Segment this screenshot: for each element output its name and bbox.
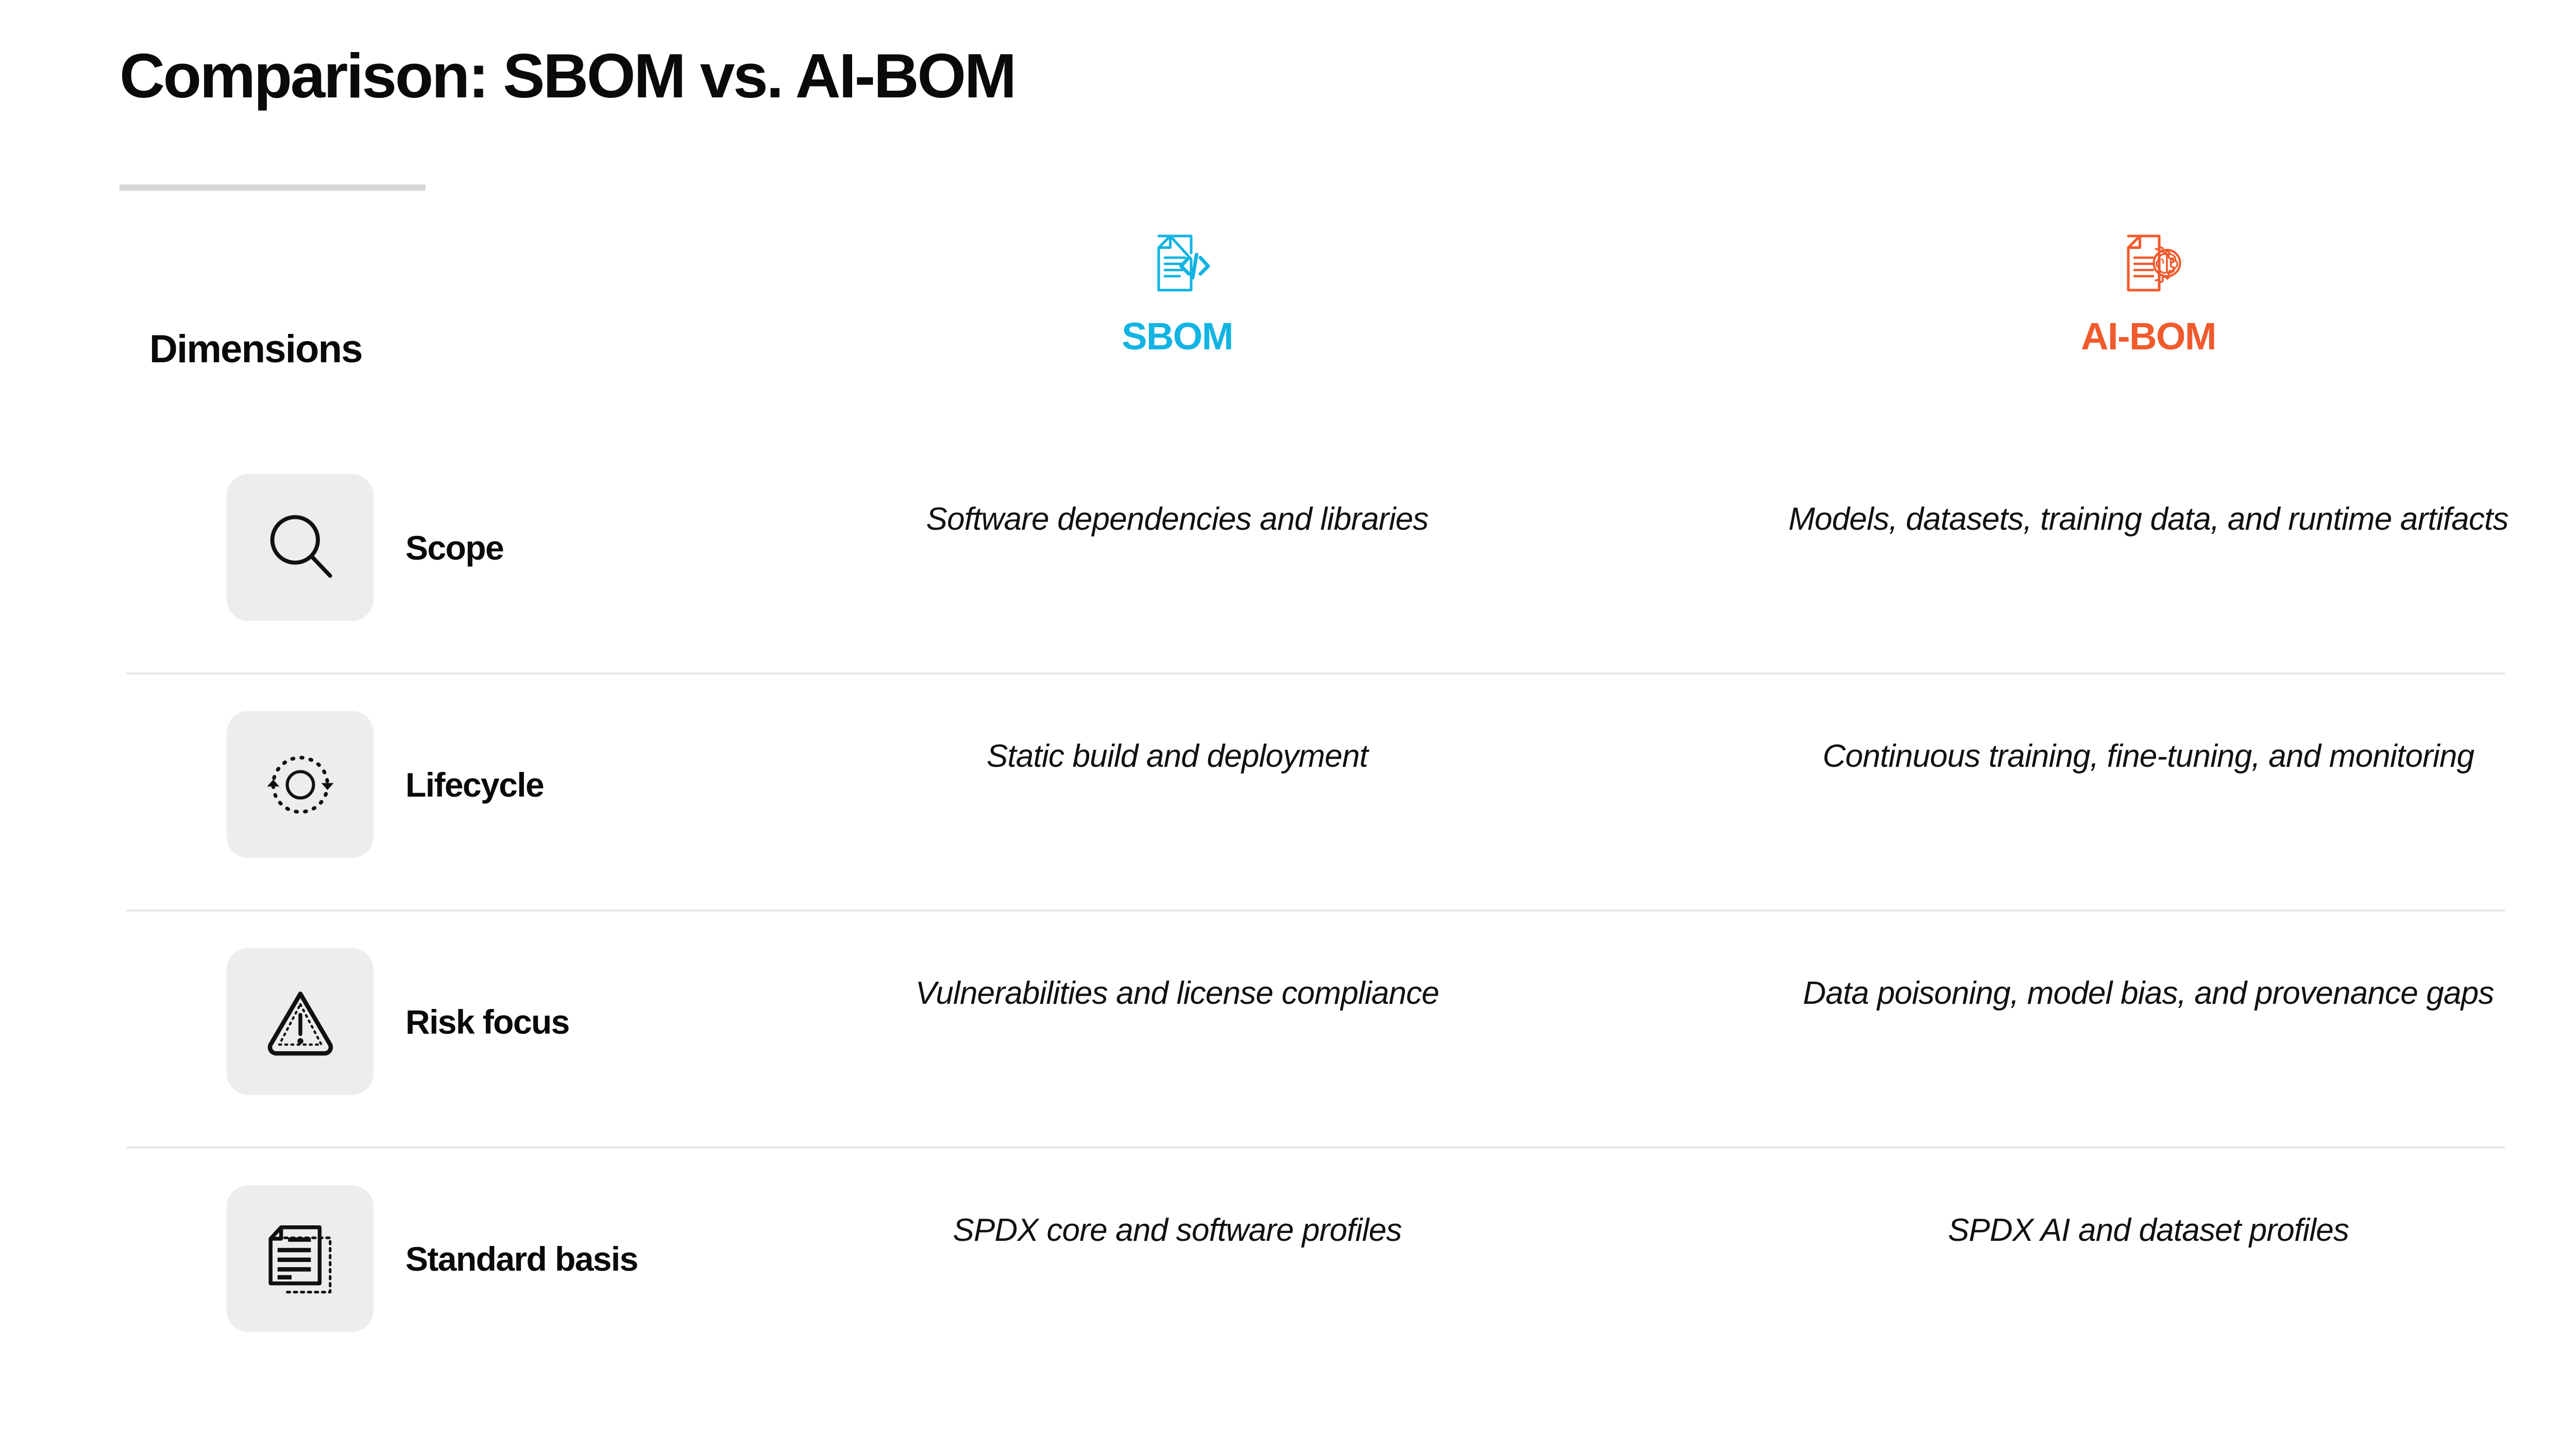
cell-sbom: Static build and deployment	[871, 735, 1484, 778]
row-label: Lifecycle	[405, 768, 544, 802]
column-header-aibom-label: AI-BOM	[2081, 317, 2216, 356]
row-divider	[126, 1147, 2505, 1149]
row-label: Standard basis	[405, 1242, 638, 1276]
cell-aibom: Models, datasets, training data, and run…	[1777, 498, 2519, 541]
cell-sbom: SPDX core and software profiles	[871, 1209, 1484, 1252]
column-header-sbom: SBOM	[876, 227, 1479, 356]
row-label: Scope	[405, 531, 503, 565]
row-dimension-cell: Lifecycle	[227, 711, 544, 858]
table-row: Lifecycle Static build and deployment Co…	[0, 672, 2576, 909]
warning-triangle-icon	[227, 948, 374, 1095]
cell-aibom: SPDX AI and dataset profiles	[1777, 1209, 2519, 1252]
comparison-slide: Comparison: SBOM vs. AI-BOM Dimensions S…	[0, 0, 2576, 1449]
column-header-sbom-label: SBOM	[1122, 317, 1233, 356]
table-row: Risk focus Vulnerabilities and license c…	[0, 909, 2576, 1147]
title-accent-rule	[120, 184, 426, 191]
row-dimension-cell: Scope	[227, 474, 503, 621]
table-row: Scope Software dependencies and librarie…	[0, 435, 2576, 672]
document-copy-icon	[227, 1185, 374, 1332]
document-code-icon	[1139, 227, 1216, 304]
document-brain-gear-icon	[2110, 227, 2187, 304]
row-divider	[126, 909, 2505, 912]
cycle-arrows-icon	[227, 711, 374, 858]
cell-aibom: Continuous training, fine-tuning, and mo…	[1777, 735, 2519, 778]
dimensions-header-label: Dimensions	[149, 330, 362, 369]
cell-sbom: Vulnerabilities and license compliance	[871, 972, 1484, 1015]
column-header-aibom: AI-BOM	[1788, 227, 2509, 356]
cell-aibom: Data poisoning, model bias, and provenan…	[1777, 972, 2519, 1015]
magnifier-icon	[227, 474, 374, 621]
page-title: Comparison: SBOM vs. AI-BOM	[120, 43, 1015, 109]
row-dimension-cell: Standard basis	[227, 1185, 638, 1332]
table-row: Standard basis SPDX core and software pr…	[0, 1147, 2576, 1384]
title-block: Comparison: SBOM vs. AI-BOM	[120, 43, 1015, 109]
row-label: Risk focus	[405, 1005, 569, 1039]
row-divider	[126, 672, 2505, 675]
row-dimension-cell: Risk focus	[227, 948, 569, 1095]
cell-sbom: Software dependencies and libraries	[871, 498, 1484, 541]
